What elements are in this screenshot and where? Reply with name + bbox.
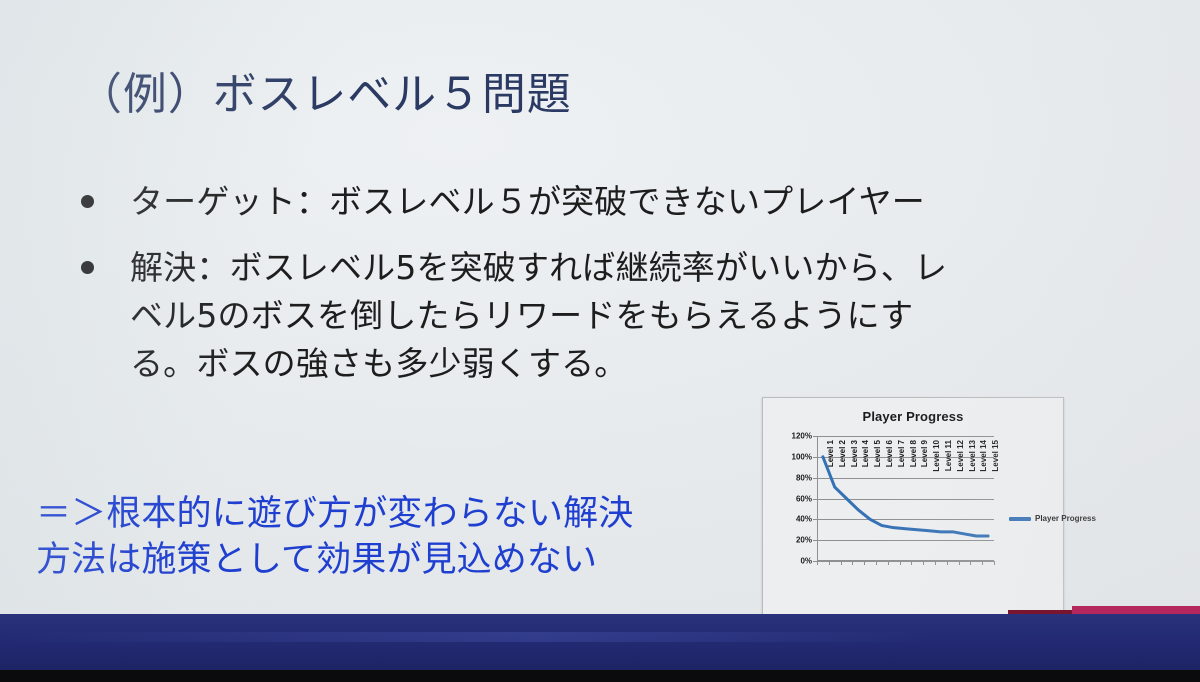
chart-x-tick-mark	[888, 561, 889, 565]
chart-x-tick-mark	[959, 561, 960, 565]
bullet-line: ベル5のボスを倒したらリワードをもらえるようにす	[130, 292, 1158, 340]
chart-x-tick-mark	[935, 561, 936, 565]
chart-x-tick-mark	[829, 561, 830, 565]
chart-x-tick-mark	[982, 561, 983, 565]
presentation-photo: （例）ボスレベル５問題 ターゲット：ボスレベル５が突破できないプレイヤー 解決：…	[0, 0, 1200, 682]
chart-x-tick-mark	[817, 561, 818, 565]
chart-y-tick-label: 40%	[796, 515, 812, 524]
stage-bottom-shadow	[0, 670, 1200, 682]
bullet-line: ターゲット：ボスレベル５が突破できないプレイヤー	[130, 178, 1158, 226]
bullet-dot-icon	[81, 195, 94, 208]
chart-x-tick-mark	[970, 561, 971, 565]
chart-x-tick-mark	[900, 561, 901, 565]
chart-y-tick-label: 80%	[796, 473, 812, 482]
bullet-text-solution: 解決：ボスレベル5を突破すれば継続率がいいから、レ ベル5のボスを倒したらリワー…	[130, 244, 1158, 388]
conclusion-text: ＝＞根本的に遊び方が変わらない解決 方法は施策として効果が見込めない	[36, 492, 776, 583]
chart-x-tick-mark	[852, 561, 853, 565]
player-progress-chart: Player Progress 0%20%40%60%80%100%120% L…	[762, 397, 1064, 631]
chart-y-tick-label: 100%	[792, 452, 812, 461]
chart-y-tick-label: 60%	[796, 494, 812, 503]
chart-x-tick-mark	[864, 561, 865, 565]
chart-x-tick-mark	[994, 561, 995, 565]
chart-title: Player Progress	[763, 409, 1063, 424]
bullet-line: る。ボスの強さも多少弱くする。	[130, 340, 1158, 388]
chart-y-tick-label: 20%	[796, 536, 812, 545]
bullet-dot-icon	[81, 261, 94, 274]
chart-x-tick-mark	[911, 561, 912, 565]
bullet-list: ターゲット：ボスレベル５が突破できないプレイヤー 解決：ボスレベル5を突破すれば…	[78, 178, 1158, 405]
bullet-item-target: ターゲット：ボスレベル５が突破できないプレイヤー	[78, 178, 1158, 226]
chart-series-line	[817, 436, 994, 561]
slide-title: （例）ボスレベル５問題	[78, 58, 572, 122]
chart-y-tick-label: 0%	[800, 557, 812, 566]
chart-x-tick-mark	[923, 561, 924, 565]
projected-slide: （例）ボスレベル５問題 ターゲット：ボスレベル５が突破できないプレイヤー 解決：…	[0, 0, 1200, 625]
chart-y-tick-label: 120%	[792, 432, 812, 441]
chart-plot-area: 0%20%40%60%80%100%120% Level 1Level 2Lev…	[817, 436, 994, 561]
stage-bottom-band	[0, 614, 1200, 672]
bullet-text-target: ターゲット：ボスレベル５が突破できないプレイヤー	[130, 178, 1158, 226]
chart-series-polyline	[823, 457, 988, 536]
legend-label: Player Progress	[1035, 514, 1096, 523]
bullet-item-solution: 解決：ボスレベル5を突破すれば継続率がいいから、レ ベル5のボスを倒したらリワー…	[78, 244, 1158, 388]
chart-gridline	[817, 561, 994, 562]
legend-swatch-icon	[1009, 517, 1031, 521]
bullet-line: 解決：ボスレベル5を突破すれば継続率がいいから、レ	[130, 244, 1158, 292]
chart-x-tick-mark	[947, 561, 948, 565]
conclusion-line: ＝＞根本的に遊び方が変わらない解決	[36, 492, 776, 538]
chart-x-tick-mark	[841, 561, 842, 565]
chart-x-tick-mark	[876, 561, 877, 565]
chart-legend: Player Progress	[1009, 514, 1096, 523]
conclusion-line: 方法は施策として効果が見込めない	[36, 538, 776, 584]
